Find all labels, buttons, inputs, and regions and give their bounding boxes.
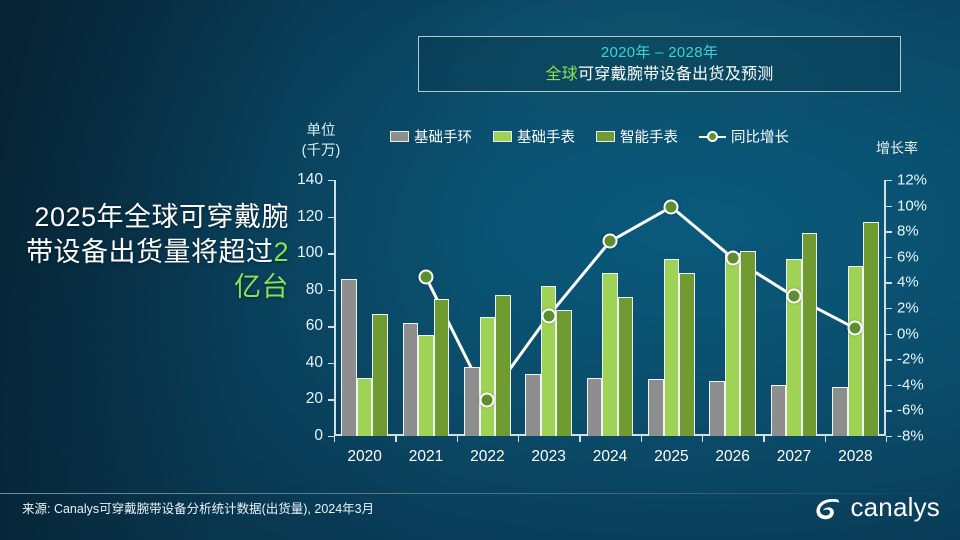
bar-2021-series1[interactable] bbox=[403, 323, 419, 436]
legend-label: 基础手表 bbox=[517, 126, 575, 147]
y-axis-left-tick-label: 100 bbox=[297, 244, 323, 262]
bar-2028-series1[interactable] bbox=[832, 387, 848, 436]
x-axis-tick bbox=[518, 436, 519, 442]
y-axis-left-tick-label: 120 bbox=[297, 208, 323, 226]
legend-item-2[interactable]: 基础手表 bbox=[493, 126, 575, 147]
y-axis-left-tick bbox=[328, 253, 334, 254]
y-axis-right-tick bbox=[886, 180, 892, 181]
headline-main: 2025年全球可穿戴腕带设备出货量将超过 bbox=[26, 202, 289, 267]
x-axis-label-2023: 2023 bbox=[531, 448, 565, 466]
bar-2022-series1[interactable] bbox=[464, 367, 480, 436]
y-axis-right-tick-label: 8% bbox=[897, 223, 919, 240]
canalys-logo: canalys bbox=[813, 492, 940, 523]
y-axis-left-tick-label: 20 bbox=[306, 390, 323, 408]
x-axis-tick bbox=[579, 436, 580, 442]
swatch-icon bbox=[390, 131, 409, 142]
growth-marker-2021[interactable] bbox=[419, 270, 434, 285]
legend-label: 基础手环 bbox=[414, 126, 472, 147]
y-axis-right-tick bbox=[886, 282, 892, 283]
y-axis-left-tick bbox=[328, 363, 334, 364]
y-axis-right-tick bbox=[886, 308, 892, 309]
bar-2025-series2[interactable] bbox=[664, 259, 680, 436]
y-axis-right-tick bbox=[886, 359, 892, 360]
y-axis-right-tick-label: -8% bbox=[897, 428, 924, 445]
x-axis-label-2022: 2022 bbox=[470, 448, 504, 466]
bar-2024-series2[interactable] bbox=[602, 273, 618, 436]
line-marker-icon bbox=[699, 131, 726, 143]
x-axis-tick bbox=[763, 436, 764, 442]
x-axis-tick bbox=[334, 436, 335, 442]
chart-title-region: 全球 bbox=[545, 66, 578, 83]
source-note: 来源: Canalys可穿戴腕带设备分析统计数据(出货量), 2024年3月 bbox=[22, 498, 374, 517]
unit-label-line1: 单位 bbox=[286, 122, 356, 142]
y-axis-right-tick-label: -4% bbox=[897, 376, 924, 393]
chart-title-subject: 可穿戴腕带设备出货及预测 bbox=[578, 66, 774, 83]
swatch-icon bbox=[596, 131, 615, 142]
y-axis-right-tick-label: 10% bbox=[897, 197, 927, 214]
bar-2023-series3[interactable] bbox=[556, 310, 572, 436]
chart-legend: 基础手环基础手表智能手表同比增长 bbox=[390, 126, 789, 147]
x-axis-tick bbox=[641, 436, 642, 442]
unit-label-line2: (千万) bbox=[286, 142, 356, 162]
chart-title-main: 全球可穿戴腕带设备出货及预测 bbox=[545, 63, 773, 86]
y-axis-left-tick bbox=[328, 326, 334, 327]
y-axis-left-tick bbox=[328, 290, 334, 291]
bar-2027-series2[interactable] bbox=[786, 259, 802, 436]
y-axis-right-tick-label: 0% bbox=[897, 325, 919, 342]
y-axis-right-tick bbox=[886, 410, 892, 411]
bar-2028-series3[interactable] bbox=[863, 222, 879, 436]
y-axis-right-tick bbox=[886, 334, 892, 335]
bar-2027-series3[interactable] bbox=[802, 233, 818, 436]
x-axis-label-2027: 2027 bbox=[777, 448, 811, 466]
headline: 2025年全球可穿戴腕带设备出货量将超过2亿台 bbox=[14, 200, 289, 305]
growth-marker-2024[interactable] bbox=[603, 234, 618, 249]
bar-2026-series2[interactable] bbox=[725, 253, 741, 436]
swatch-icon bbox=[493, 131, 512, 142]
bar-2023-series1[interactable] bbox=[525, 374, 541, 436]
y-axis-left-tick bbox=[328, 399, 334, 400]
bar-2024-series1[interactable] bbox=[587, 378, 603, 437]
x-axis-label-2028: 2028 bbox=[838, 448, 872, 466]
legend-item-4[interactable]: 同比增长 bbox=[699, 126, 789, 147]
y-axis-left-tick bbox=[328, 217, 334, 218]
x-axis-tick bbox=[702, 436, 703, 442]
chart-plot-area: 020406080100120140-8%-6%-4%-2%0%2%4%6%8%… bbox=[334, 180, 886, 436]
y-axis-right-tick-label: -2% bbox=[897, 351, 924, 368]
bar-2021-series3[interactable] bbox=[434, 299, 450, 436]
bar-2026-series1[interactable] bbox=[709, 381, 725, 436]
y-axis-right-tick bbox=[886, 257, 892, 258]
legend-item-1[interactable]: 基础手环 bbox=[390, 126, 472, 147]
bar-2020-series1[interactable] bbox=[341, 279, 357, 436]
x-axis-label-2025: 2025 bbox=[654, 448, 688, 466]
y-axis-left-tick-label: 80 bbox=[306, 281, 323, 299]
unit-label: 单位 (千万) bbox=[286, 122, 356, 161]
growth-marker-2022[interactable] bbox=[480, 393, 495, 408]
y-axis-right-tick-label: 2% bbox=[897, 300, 919, 317]
y-axis-left-tick-label: 60 bbox=[306, 317, 323, 335]
bar-2026-series3[interactable] bbox=[740, 251, 756, 436]
bar-2025-series3[interactable] bbox=[679, 273, 695, 436]
legend-item-3[interactable]: 智能手表 bbox=[596, 126, 678, 147]
y-axis-left-tick-label: 40 bbox=[306, 354, 323, 372]
x-axis-tick bbox=[825, 436, 826, 442]
bar-2020-series3[interactable] bbox=[372, 314, 388, 437]
growth-marker-2028[interactable] bbox=[848, 321, 863, 336]
bar-2024-series3[interactable] bbox=[618, 297, 634, 436]
y-axis-left-tick-label: 0 bbox=[314, 427, 323, 445]
y-axis-right-tick-label: 12% bbox=[897, 172, 927, 189]
growth-marker-2025[interactable] bbox=[664, 199, 679, 214]
bar-2028-series2[interactable] bbox=[848, 266, 864, 436]
y-axis-left-tick bbox=[328, 180, 334, 181]
growth-rate-axis-label: 增长率 bbox=[876, 138, 918, 158]
legend-label: 智能手表 bbox=[620, 126, 678, 147]
x-axis-label-2020: 2020 bbox=[347, 448, 381, 466]
legend-label: 同比增长 bbox=[731, 126, 789, 147]
x-axis-label-2026: 2026 bbox=[715, 448, 749, 466]
y-axis-right-tick-label: 4% bbox=[897, 274, 919, 291]
growth-marker-2023[interactable] bbox=[541, 308, 556, 323]
chart-title-period: 2020年 – 2028年 bbox=[601, 42, 718, 64]
bar-2020-series2[interactable] bbox=[357, 378, 373, 437]
bar-2022-series3[interactable] bbox=[495, 295, 511, 436]
x-axis-tick bbox=[395, 436, 396, 442]
canalys-logo-text: canalys bbox=[850, 492, 940, 523]
y-axis-left-tick-label: 140 bbox=[297, 171, 323, 189]
bar-2027-series1[interactable] bbox=[771, 385, 787, 436]
bar-2021-series2[interactable] bbox=[418, 335, 434, 436]
y-axis-right-tick bbox=[886, 231, 892, 232]
y-axis-right-tick-label: 6% bbox=[897, 248, 919, 265]
growth-marker-2026[interactable] bbox=[725, 251, 740, 266]
growth-marker-2027[interactable] bbox=[787, 289, 802, 304]
y-axis-right-tick bbox=[886, 206, 892, 207]
bar-2022-series2[interactable] bbox=[480, 317, 496, 436]
x-axis-tick bbox=[886, 436, 887, 442]
x-axis-tick bbox=[457, 436, 458, 442]
y-axis-right-tick bbox=[886, 385, 892, 386]
y-axis-right-tick-label: -6% bbox=[897, 402, 924, 419]
x-axis-label-2021: 2021 bbox=[409, 448, 443, 466]
x-axis-label-2024: 2024 bbox=[593, 448, 627, 466]
bar-2025-series1[interactable] bbox=[648, 379, 664, 436]
chart-title-box: 2020年 – 2028年 全球可穿戴腕带设备出货及预测 bbox=[418, 36, 901, 92]
canalys-swirl-icon bbox=[813, 493, 843, 523]
